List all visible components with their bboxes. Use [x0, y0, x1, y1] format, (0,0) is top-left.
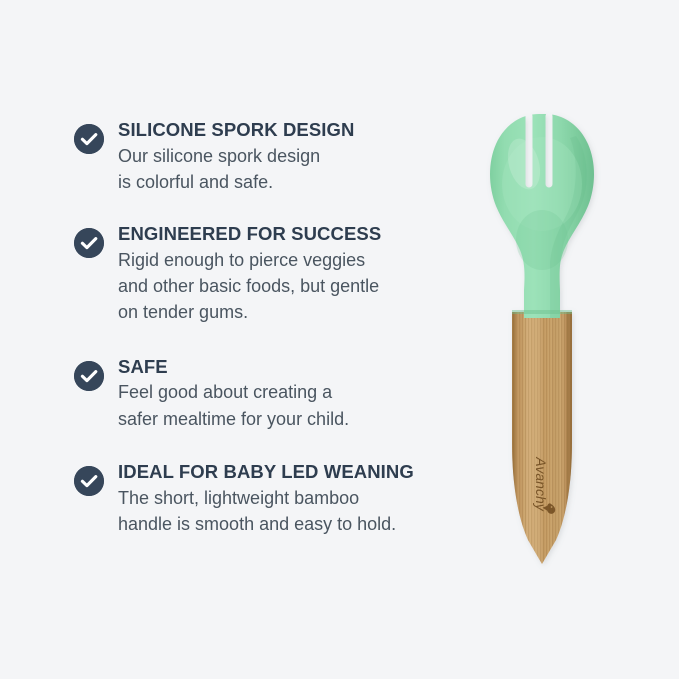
head-handle-joint [512, 310, 572, 314]
product-image: Avanchy [486, 112, 598, 564]
check-circle-icon [74, 228, 104, 258]
feature-item: ENGINEERED FOR SUCCESS Rigid enough to p… [74, 222, 474, 325]
check-circle-icon [74, 361, 104, 391]
feature-body: The short, lightweight bamboo handle is … [118, 485, 474, 538]
feature-item: SILICONE SPORK DESIGN Our silicone spork… [74, 118, 474, 195]
feature-item: SAFE Feel good about creating a safer me… [74, 355, 474, 432]
check-circle-icon [74, 466, 104, 496]
feature-title: SILICONE SPORK DESIGN [118, 118, 474, 142]
feature-body: Feel good about creating a safer mealtim… [118, 379, 474, 432]
check-circle-icon [74, 124, 104, 154]
feature-body: Our silicone spork design is colorful an… [118, 143, 474, 196]
feature-item: IDEAL FOR BABY LED WEANING The short, li… [74, 460, 474, 537]
brand-name: Avanchy [533, 456, 549, 511]
feature-title: SAFE [118, 355, 474, 379]
feature-list: SILICONE SPORK DESIGN Our silicone spork… [74, 118, 474, 537]
bamboo-handle: Avanchy [510, 310, 574, 566]
product-infographic: SILICONE SPORK DESIGN Our silicone spork… [0, 0, 679, 679]
feature-title: ENGINEERED FOR SUCCESS [118, 222, 474, 246]
feature-body: Rigid enough to pierce veggies and other… [118, 247, 474, 326]
silicone-spork-head [490, 114, 594, 318]
feature-title: IDEAL FOR BABY LED WEANING [118, 460, 474, 484]
